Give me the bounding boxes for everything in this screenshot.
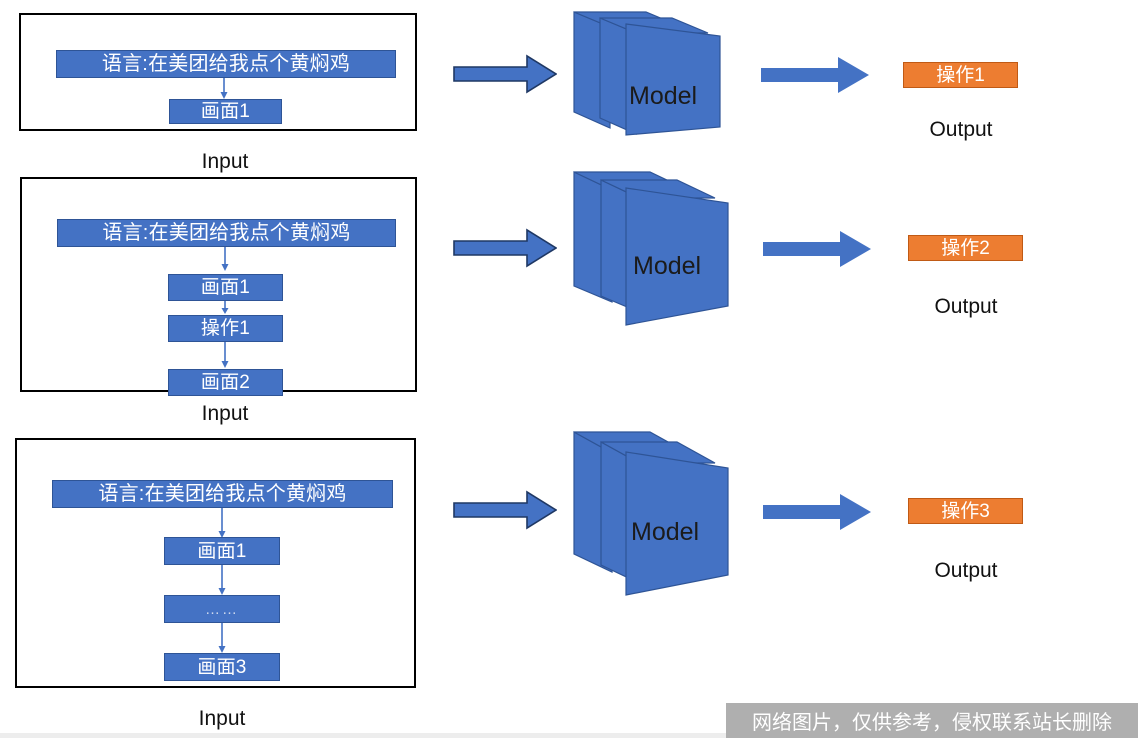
- connector-row-3-c: [217, 623, 227, 654]
- output-caption-row-1: Output: [881, 118, 1041, 142]
- block-arrow-input-to-model-row-3: [453, 490, 557, 530]
- step-box-screen1-row-1: 画面1: [169, 99, 282, 124]
- block-arrow-model-to-output-row-2: [762, 229, 872, 269]
- block-arrow-input-to-model-row-1: [453, 54, 557, 94]
- model-stack-row-1: [568, 4, 728, 136]
- step-box-ellipsis-row-3: ……: [164, 595, 280, 623]
- step-box-language-row-1: 语言:在美团给我点个黄焖鸡: [56, 50, 396, 78]
- step-box-action1-row-2: 操作1: [168, 315, 283, 342]
- model-label-row-1: Model: [629, 82, 697, 111]
- connector-row-2-c: [220, 342, 230, 369]
- model-label-row-2: Model: [633, 252, 701, 281]
- output-caption-row-2: Output: [886, 295, 1046, 319]
- input-caption-row-3: Input: [142, 707, 302, 731]
- input-caption-row-2: Input: [145, 402, 305, 426]
- step-box-screen3-row-3: 画面3: [164, 653, 280, 681]
- model-stack-row-2: [568, 170, 738, 330]
- connector-row-3-a: [217, 508, 227, 539]
- step-box-language-row-3: 语言:在美团给我点个黄焖鸡: [52, 480, 393, 508]
- model-label-row-3: Model: [631, 518, 699, 547]
- step-box-screen2-row-2: 画面2: [168, 369, 283, 396]
- input-caption-row-1: Input: [145, 150, 305, 174]
- step-box-screen1-row-3: 画面1: [164, 537, 280, 565]
- diagram-canvas: 语言:在美团给我点个黄焖鸡 画面1 Input Model 操作1 Output…: [0, 0, 1138, 738]
- output-box-row-2: 操作2: [908, 235, 1023, 261]
- step-box-language-row-2: 语言:在美团给我点个黄焖鸡: [57, 219, 396, 247]
- connector-row-3-b: [217, 565, 227, 596]
- step-box-screen1-row-2: 画面1: [168, 274, 283, 301]
- connector-row-2-a: [220, 247, 230, 272]
- bottom-strip: [0, 733, 726, 738]
- output-box-row-1: 操作1: [903, 62, 1018, 88]
- block-arrow-model-to-output-row-3: [762, 492, 872, 532]
- block-arrow-input-to-model-row-2: [453, 228, 557, 268]
- connector-row-1-a: [219, 78, 229, 100]
- output-box-row-3: 操作3: [908, 498, 1023, 524]
- model-stack-row-3: [568, 428, 738, 600]
- connector-row-2-b: [220, 301, 230, 315]
- watermark-banner: 网络图片，仅供参考，侵权联系站长删除: [726, 703, 1138, 738]
- block-arrow-model-to-output-row-1: [760, 55, 870, 95]
- output-caption-row-3: Output: [886, 559, 1046, 583]
